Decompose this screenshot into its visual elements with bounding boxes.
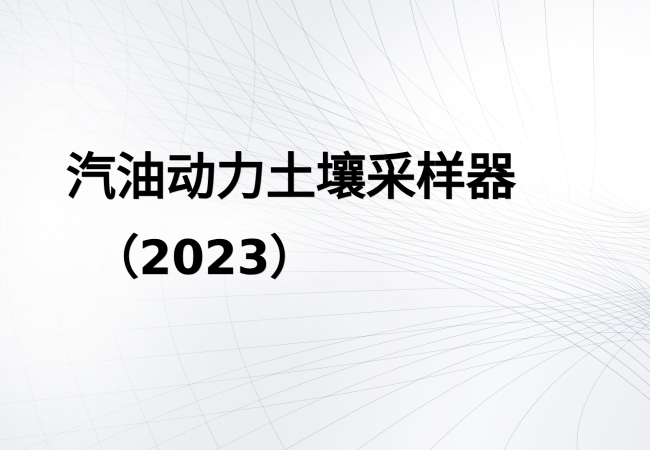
title-block: 汽油动力土壤采样器 （2023） bbox=[0, 0, 650, 450]
slide-title-main: 汽油动力土壤采样器 bbox=[66, 148, 516, 206]
slide-title-year: （2023） bbox=[92, 231, 317, 287]
title-slide: 汽油动力土壤采样器 （2023） bbox=[0, 0, 650, 450]
